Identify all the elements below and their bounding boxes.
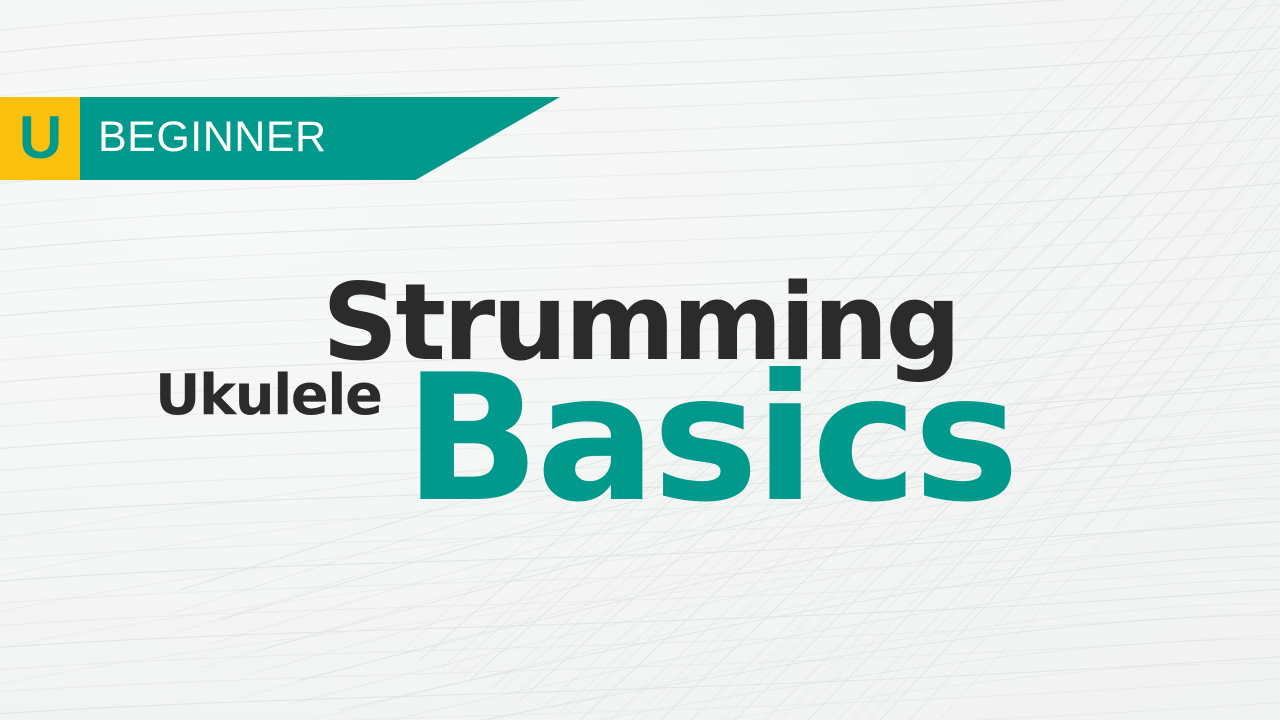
brand-logo-badge: U: [0, 97, 80, 180]
level-label: BEGINNER: [80, 96, 327, 179]
title-card: U BEGINNER Strumming Ukulele Basics: [0, 0, 1280, 720]
brand-logo-letter: U: [19, 108, 61, 168]
